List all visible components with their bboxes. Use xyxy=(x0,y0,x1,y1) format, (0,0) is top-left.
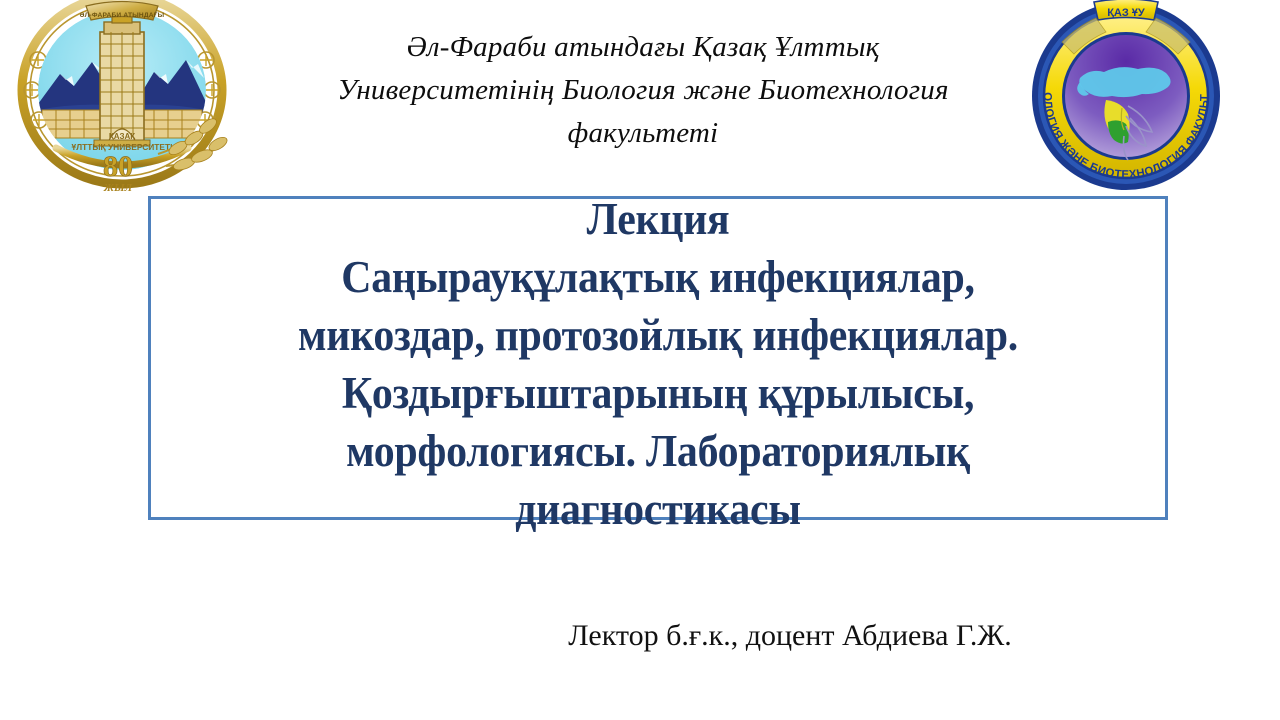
biology-faculty-emblem-logo: ҚАЗ ҰУ БИОЛОГИЯ ЖӘНЕ БИОТЕХНОЛОГИЯ ФАКУЛ… xyxy=(1018,0,1236,196)
lecture-title: Лекция Саңырауқұлақтық инфекциялар, мико… xyxy=(186,190,1131,538)
institution-header-line-2: Университетінің Биология және Биотехноло… xyxy=(248,69,1038,112)
kaznu-anniversary-word: ЖЫЛ xyxy=(103,182,133,194)
faculty-top-label: ҚАЗ ҰУ xyxy=(1107,7,1145,19)
kaznu-top-banner-text: ӘЛ-ФАРАБИ АТЫНДАҒЫ xyxy=(80,12,165,19)
kaznu-emblem-logo: ӘЛ-ФАРАБИ АТЫНДАҒЫ ҚАЗАҚ ҰЛТТЫҚ УНИВЕРСИ… xyxy=(8,0,256,198)
institution-header-line-3: факультеті xyxy=(248,112,1038,155)
institution-header: Әл-Фараби атындағы Қазақ Ұлттық Универси… xyxy=(248,26,1038,155)
institution-header-line-1: Әл-Фараби атындағы Қазақ Ұлттық xyxy=(248,26,1038,69)
presentation-slide: ӘЛ-ФАРАБИ АТЫНДАҒЫ ҚАЗАҚ ҰЛТТЫҚ УНИВЕРСИ… xyxy=(0,0,1280,720)
lecturer-credit: Лектор б.ғ.к., доцент Абдиева Г.Ж. xyxy=(380,618,1200,654)
kaznu-caption-line1: ҚАЗАҚ xyxy=(109,132,135,141)
kazakhstan-map-shape xyxy=(1079,67,1170,97)
kaznu-anniversary-number: 80 xyxy=(103,150,133,183)
